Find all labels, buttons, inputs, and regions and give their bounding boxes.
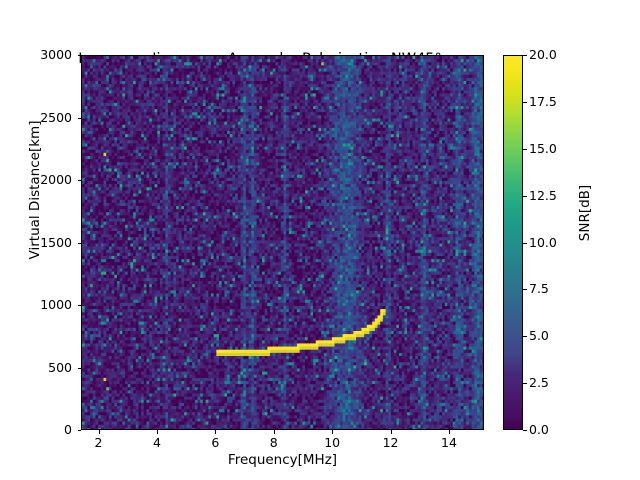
colorbar-tick-mark xyxy=(523,336,527,337)
colorbar-tick-mark xyxy=(523,243,527,244)
colorbar-tick-mark xyxy=(523,430,527,431)
y-tick-label: 3000 xyxy=(22,47,72,62)
y-tick-mark xyxy=(78,305,82,306)
colorbar-tick-label: 7.5 xyxy=(529,281,549,296)
colorbar-tick-label: 12.5 xyxy=(529,188,557,203)
x-tick-mark xyxy=(274,430,275,434)
x-tick-label: 4 xyxy=(137,435,177,450)
y-tick-label: 1000 xyxy=(22,297,72,312)
y-tick-mark xyxy=(78,368,82,369)
y-tick-mark xyxy=(78,118,82,119)
y-axis-label: Virtual Distance[km] xyxy=(27,95,43,285)
x-tick-mark xyxy=(332,430,333,434)
y-tick-label: 500 xyxy=(22,360,72,375)
x-tick-mark xyxy=(449,430,450,434)
ionogram-heatmap xyxy=(82,56,484,430)
plot-area[interactable] xyxy=(81,55,484,430)
y-tick-mark xyxy=(78,243,82,244)
x-tick-label: 6 xyxy=(195,435,235,450)
colorbar-label: SNR[dB] xyxy=(577,133,593,293)
colorbar-tick-mark xyxy=(523,55,527,56)
x-tick-mark xyxy=(99,430,100,434)
x-tick-mark xyxy=(215,430,216,434)
y-tick-mark xyxy=(78,180,82,181)
x-tick-mark xyxy=(157,430,158,434)
colorbar-tick-label: 2.5 xyxy=(529,375,549,390)
x-tick-mark xyxy=(391,430,392,434)
colorbar-tick-mark xyxy=(523,383,527,384)
x-tick-label: 8 xyxy=(254,435,294,450)
colorbar-tick-mark xyxy=(523,102,527,103)
colorbar-tick-label: 5.0 xyxy=(529,328,549,343)
colorbar-tick-mark xyxy=(523,289,527,290)
x-axis-label: Frequency[MHz] xyxy=(81,452,484,468)
colorbar-tick-mark xyxy=(523,196,527,197)
y-tick-mark xyxy=(78,430,82,431)
colorbar-tick-label: 0.0 xyxy=(529,422,549,437)
colorbar xyxy=(503,55,523,430)
y-tick-mark xyxy=(78,55,82,56)
x-tick-label: 12 xyxy=(371,435,411,450)
ionogram-figure: Ionogram Jicamarca-Ayacucho Polarization… xyxy=(0,0,640,480)
x-tick-label: 14 xyxy=(429,435,469,450)
colorbar-tick-label: 15.0 xyxy=(529,141,557,156)
y-tick-label: 0 xyxy=(22,422,72,437)
colorbar-tick-label: 10.0 xyxy=(529,235,557,250)
colorbar-tick-mark xyxy=(523,149,527,150)
x-tick-label: 2 xyxy=(79,435,119,450)
x-tick-label: 10 xyxy=(312,435,352,450)
colorbar-tick-label: 17.5 xyxy=(529,94,557,109)
colorbar-tick-label: 20.0 xyxy=(529,47,557,62)
